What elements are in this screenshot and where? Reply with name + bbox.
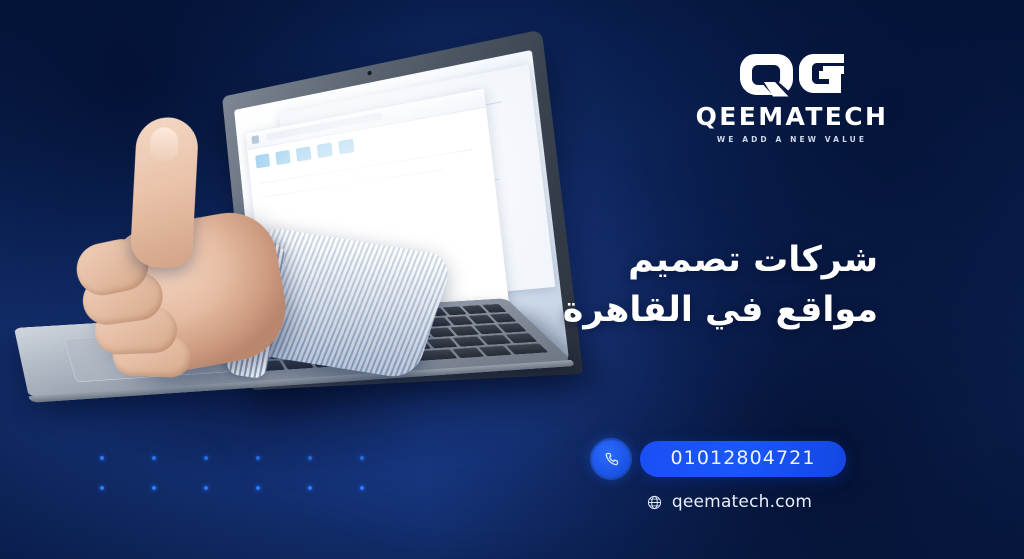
contact-block: 01012804721 qeematech.com <box>592 440 852 512</box>
headline-line-2: مواقع في القاهرة <box>458 286 878 336</box>
thumb-nail <box>149 127 179 162</box>
headline-line-1: شركات تصميم <box>458 236 878 286</box>
phone-icon <box>603 451 620 468</box>
thumbs-up-thumb <box>130 116 200 269</box>
website-row[interactable]: qeematech.com <box>592 492 852 512</box>
grid-dot <box>308 486 312 490</box>
promo-banner: QEEMATECH WE ADD A NEW VALUE شركات تصميم… <box>0 0 1024 559</box>
grid-dot <box>152 486 156 490</box>
page-title: شركات تصميم مواقع في القاهرة <box>458 236 878 335</box>
grid-dot <box>256 486 260 490</box>
brand-tagline: WE ADD A NEW VALUE <box>692 136 892 144</box>
grid-dot <box>360 486 364 490</box>
phone-number-pill[interactable]: 01012804721 <box>640 441 846 477</box>
grid-dot <box>100 486 104 490</box>
globe-icon <box>646 494 663 511</box>
webcam-dot <box>367 71 372 76</box>
arm-illustration <box>40 95 390 417</box>
phone-row[interactable]: 01012804721 <box>592 440 852 478</box>
phone-icon-badge[interactable] <box>592 440 630 478</box>
brand-wordmark: QEEMATECH <box>692 104 892 129</box>
brand-logo: QEEMATECH WE ADD A NEW VALUE <box>692 52 892 144</box>
website-label: qeematech.com <box>672 492 812 512</box>
grid-dot <box>204 486 208 490</box>
qg-monogram-icon <box>731 52 853 98</box>
